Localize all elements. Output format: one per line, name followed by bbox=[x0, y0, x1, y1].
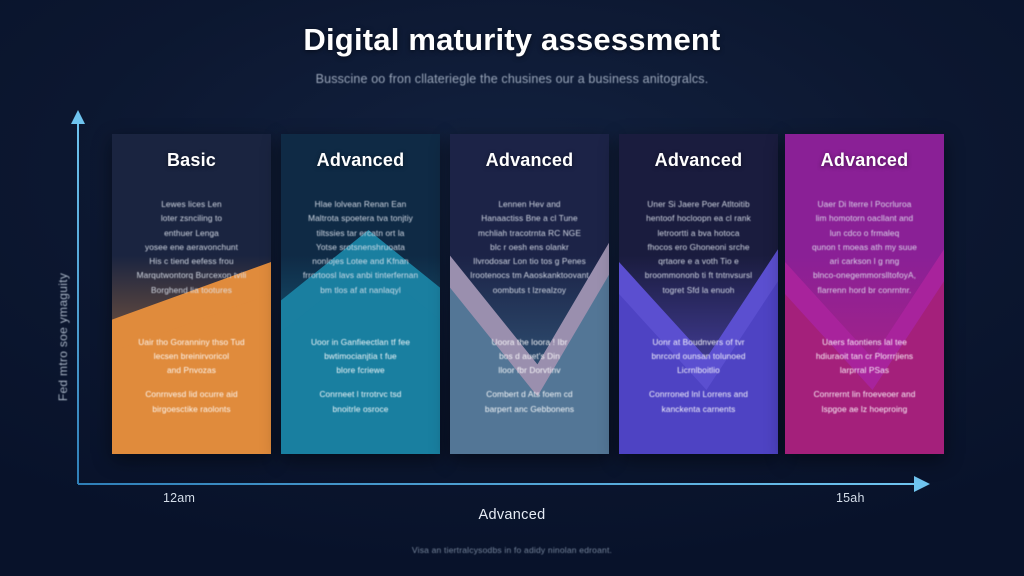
poster-canvas: Digital maturity assessment Busscine oo … bbox=[0, 0, 1024, 576]
card-title: Advanced bbox=[630, 150, 767, 171]
card-footer-paragraph: Uonr at Boudnvers of tvrbnrcord ounsan t… bbox=[630, 335, 767, 378]
x-axis-arrow-icon bbox=[914, 476, 930, 492]
x-axis-line bbox=[78, 483, 916, 485]
card-footer: Uonr at Boudnvers of tvrbnrcord ounsan t… bbox=[630, 335, 767, 440]
maturity-card[interactable]: AdvancedUner Si Jaere Poer Atltoitibhent… bbox=[619, 134, 778, 454]
card-footer-paragraph: Uoora thе loora ! Ibrbos d auet's Dinllo… bbox=[461, 335, 598, 378]
card-footer-paragraph: Uoor in Ganfieectlan tf feebwtimocianjti… bbox=[292, 335, 429, 378]
y-axis-arrow-icon bbox=[71, 110, 85, 124]
x-axis-label: Advanced bbox=[0, 507, 1024, 523]
x-axis-tick-left: 12am bbox=[163, 491, 195, 505]
footer-note: Visa an tiertralcysodbs in fo adidy nino… bbox=[0, 545, 1024, 555]
card-body-text: Uner Si Jaere Poer Atltoitibhentoof hocl… bbox=[630, 197, 767, 297]
card-footer-paragraph: Uaers faontiens lal teehdiuraoit tan cr … bbox=[796, 335, 933, 378]
maturity-card[interactable]: AdvancedLennen Hev andHanaactiss Bne a c… bbox=[450, 134, 609, 454]
card-body-text: Uaer Di lterre l Pocrluroalim homotorn o… bbox=[796, 197, 933, 297]
card-content: AdvancedUaer Di lterre l Pocrluroalim ho… bbox=[785, 134, 944, 454]
x-axis-tick-right: 15ah bbox=[836, 491, 865, 505]
card-footer: Uaers faontiens lal teehdiuraoit tan cr … bbox=[796, 335, 933, 440]
y-axis-line bbox=[77, 122, 79, 484]
card-title: Basic bbox=[123, 150, 260, 171]
card-content: BasicLewes lices Lenloter zsnciling toen… bbox=[112, 134, 271, 454]
card-footer: Uair tho Goranniny thso Tudlecsen breini… bbox=[123, 335, 260, 440]
card-body-text: Lewes lices Lenloter zsnciling toenthuer… bbox=[123, 197, 260, 297]
card-title: Advanced bbox=[461, 150, 598, 171]
card-footer-paragraph: Combert d Ats foem cdbarpert anc Gebbone… bbox=[461, 387, 598, 416]
card-footer: Uoora thе loora ! Ibrbos d auet's Dinllo… bbox=[461, 335, 598, 440]
card-footer-paragraph: Conrnvesd lid ocurre aidbirgoesctike rao… bbox=[123, 387, 260, 416]
card-footer-paragraph: Conrrernt lin froeveoer andlspgoe ae lz … bbox=[796, 387, 933, 416]
maturity-card[interactable]: AdvancedUaer Di lterre l Pocrluroalim ho… bbox=[785, 134, 944, 454]
card-title: Advanced bbox=[796, 150, 933, 171]
card-body-text: Hlae lolvean Renan EanMaltrota spoetera … bbox=[292, 197, 429, 297]
card-footer-paragraph: Uair tho Goranniny thso Tudlecsen breini… bbox=[123, 335, 260, 378]
card-content: AdvancedUner Si Jaere Poer Atltoitibhent… bbox=[619, 134, 778, 454]
maturity-card[interactable]: AdvancedHlae lolvean Renan EanMaltrota s… bbox=[281, 134, 440, 454]
card-content: AdvancedHlae lolvean Renan EanMaltrota s… bbox=[281, 134, 440, 454]
card-footer: Uoor in Ganfieectlan tf feebwtimocianjti… bbox=[292, 335, 429, 440]
page-subtitle: Busscine oo fron cllaterieglе the chusin… bbox=[0, 72, 1024, 86]
maturity-card[interactable]: BasicLewes lices Lenloter zsnciling toen… bbox=[112, 134, 271, 454]
header: Digital maturity assessment Busscine oo … bbox=[0, 22, 1024, 86]
card-body-text: Lennen Hev andHanaactiss Bne a cl Tunemc… bbox=[461, 197, 598, 297]
card-footer-paragraph: Conrneet l trrotrvc tsdbnoitrle osroce bbox=[292, 387, 429, 416]
page-title: Digital maturity assessment bbox=[0, 22, 1024, 58]
y-axis-label: Fed mtro soe ymaguity bbox=[56, 227, 70, 447]
card-footer-paragraph: Conrroned lnl Lorrens andkanckenta carne… bbox=[630, 387, 767, 416]
card-title: Advanced bbox=[292, 150, 429, 171]
card-content: AdvancedLennen Hev andHanaactiss Bne a c… bbox=[450, 134, 609, 454]
